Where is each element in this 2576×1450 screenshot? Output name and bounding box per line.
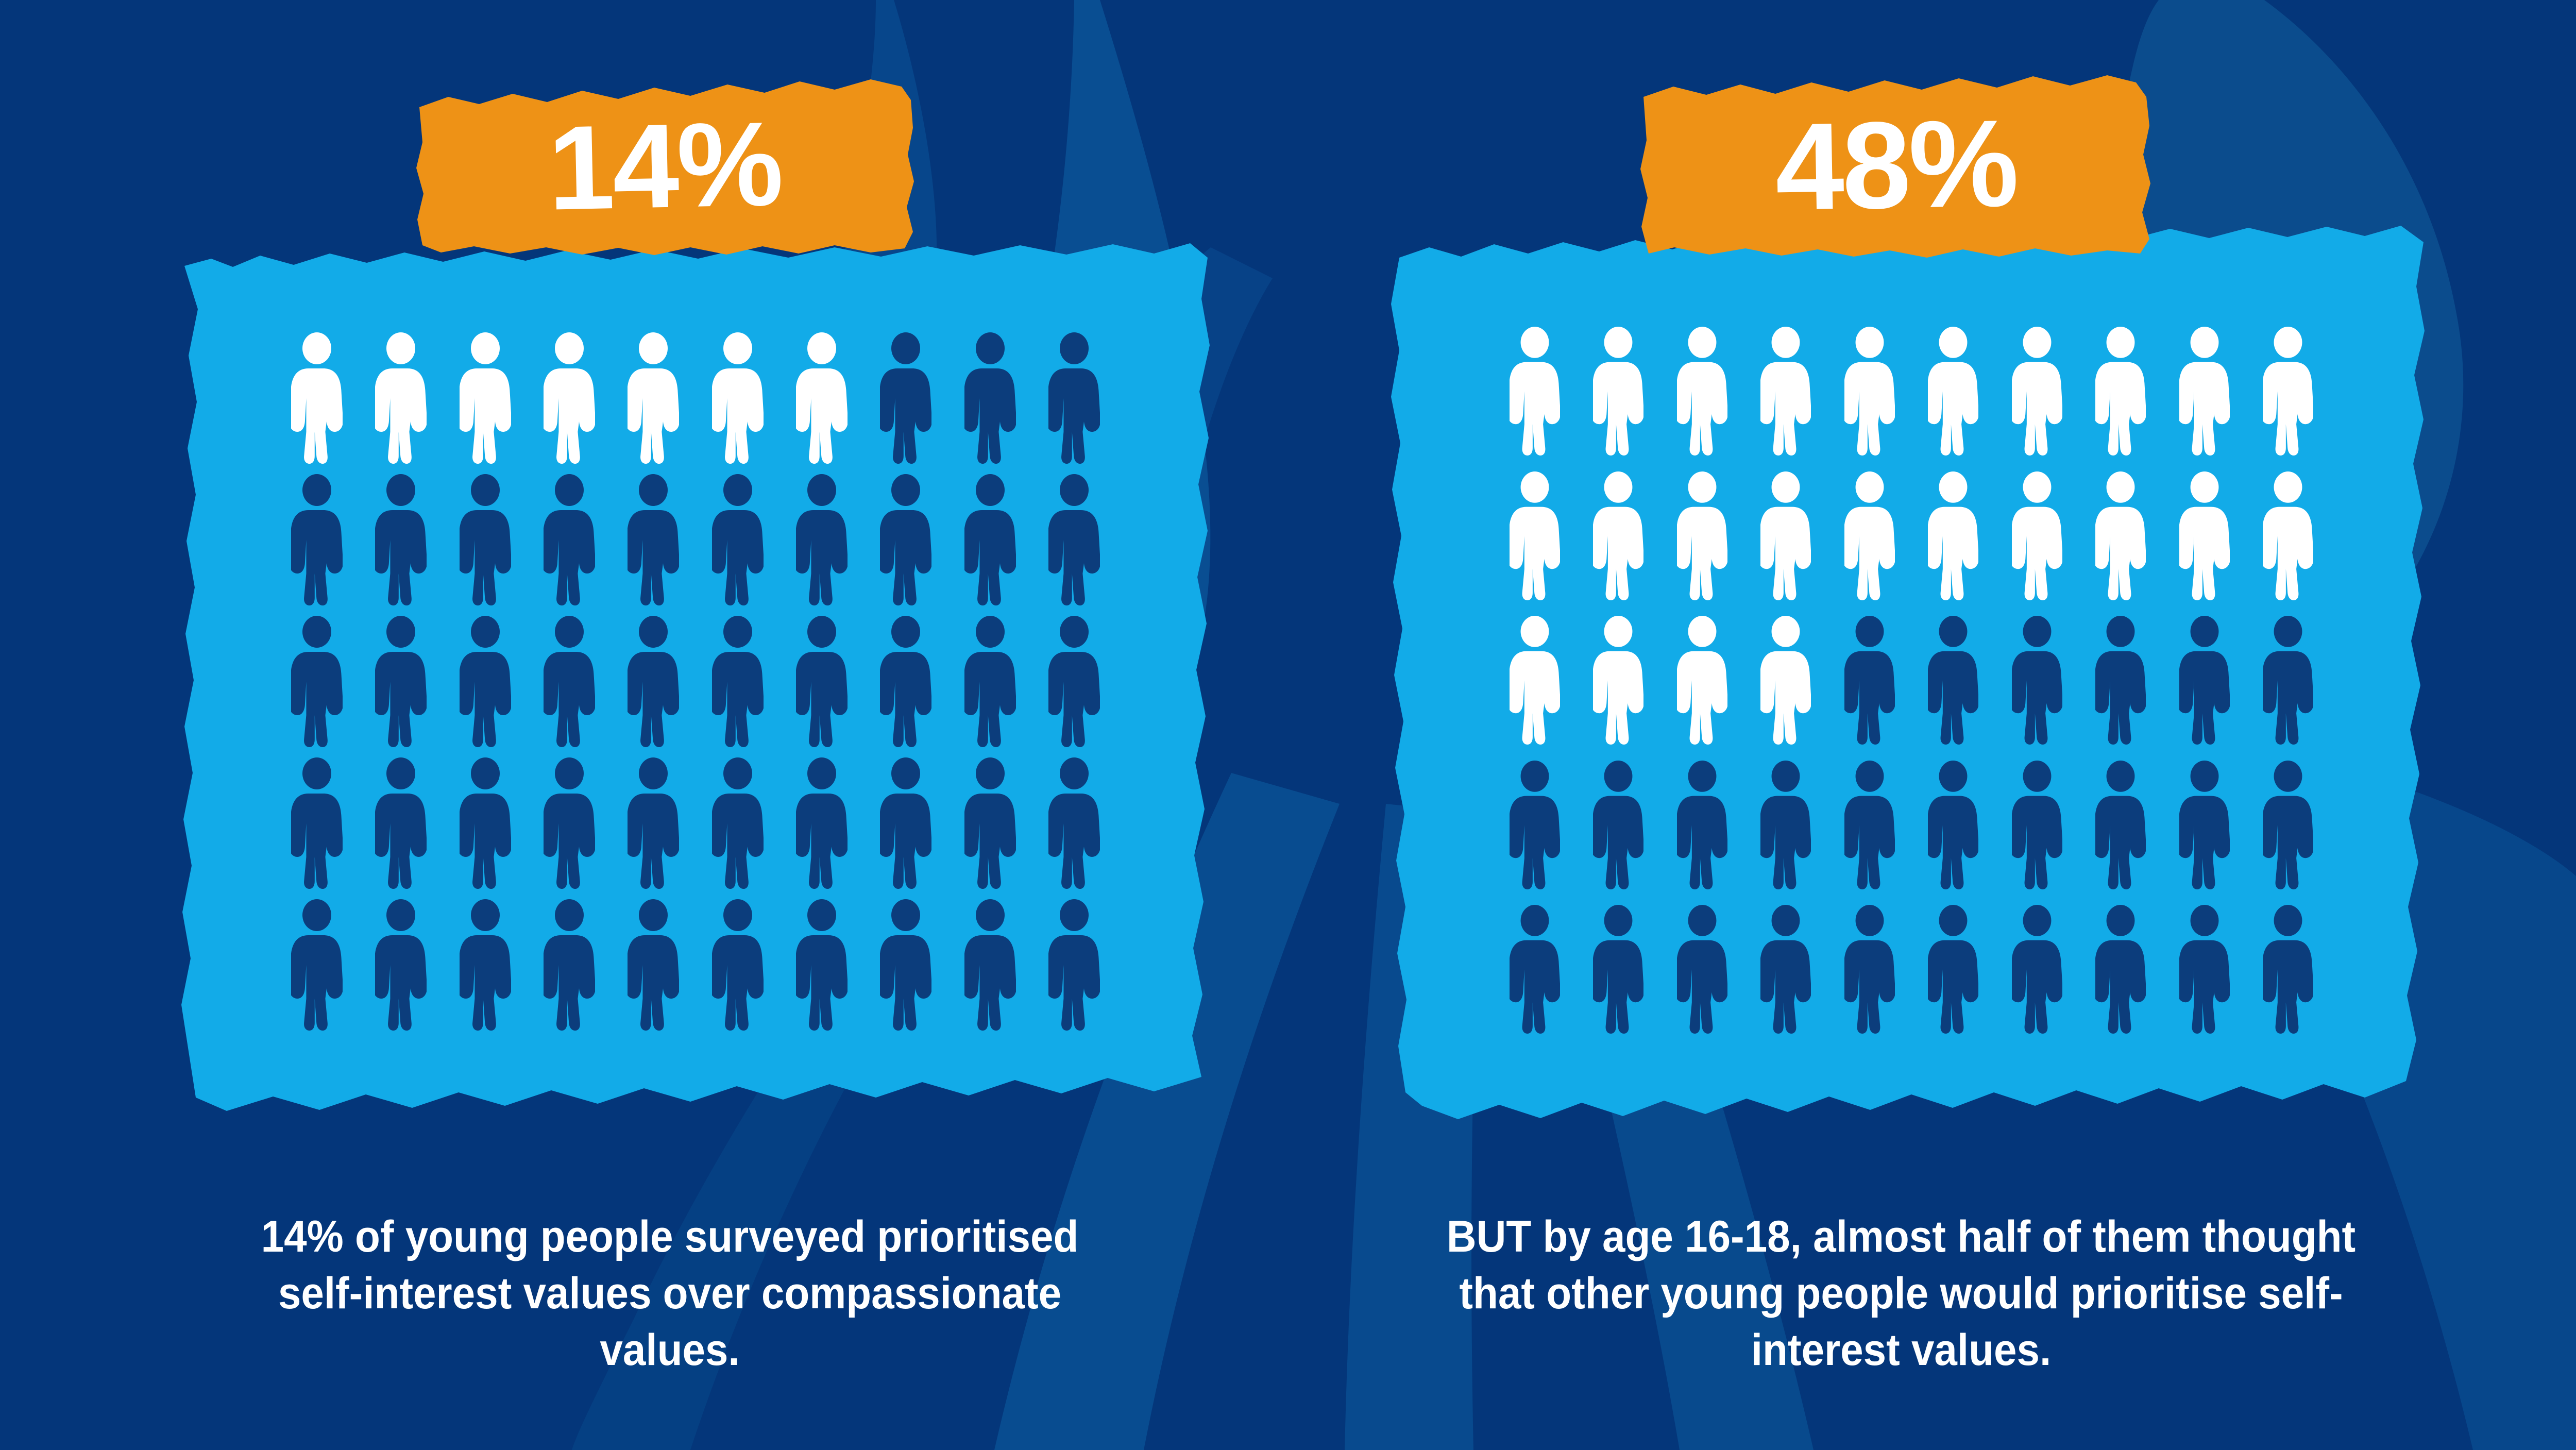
person-icon-empty [1510,758,1560,891]
person-icon-empty [712,899,764,1031]
person-icon-empty [1593,758,1643,891]
person-icon-empty [1760,903,1811,1036]
person-icon-empty [1048,757,1100,889]
person-icon-empty [375,757,427,889]
person-icon-empty [2012,758,2062,891]
person-icon-filled [460,332,511,464]
person-icon-empty [628,616,679,747]
person-icon-filled [1593,325,1643,458]
person-icon-filled [1510,469,1560,602]
pictogram-row [291,332,1100,464]
person-icon-empty [544,757,595,889]
pictogram-row [291,899,1100,1031]
person-icon-empty [1510,903,1560,1036]
person-icon-empty [796,616,848,747]
person-icon-filled [1593,614,1643,747]
person-icon-empty [712,757,764,889]
infographic-canvas: 14% 14% of young people surveyed priorit… [0,0,2576,1450]
person-icon-filled [1677,469,1727,602]
person-icon-filled [1677,325,1727,458]
person-icon-empty [796,474,848,605]
person-icon-filled [1677,614,1727,747]
caption-left: 14% of young people surveyed prioritised… [248,1208,1092,1378]
person-icon-filled [2263,469,2313,602]
person-icon-empty [1593,903,1643,1036]
person-icon-empty [880,332,931,464]
person-icon-empty [544,474,595,605]
pictogram-row [291,616,1100,747]
person-icon-empty [2263,758,2313,891]
person-icon-empty [2179,614,2230,747]
person-icon-empty [964,616,1016,747]
person-icon-empty [375,474,427,605]
person-icon-empty [544,616,595,747]
person-icon-empty [460,757,511,889]
person-icon-empty [1048,899,1100,1031]
person-icon-empty [2012,903,2062,1036]
pictogram-row [1510,325,2313,458]
person-icon-empty [1928,758,1978,891]
pictogram-row [1510,614,2313,747]
person-icon-filled [796,332,848,464]
caption-right: BUT by age 16-18, almost half of them th… [1427,1208,2375,1378]
person-icon-empty [2012,614,2062,747]
person-icon-empty [628,757,679,889]
person-icon-filled [375,332,427,464]
person-icon-empty [2095,903,2146,1036]
badge-right: 48% [1638,72,2154,258]
person-icon-empty [1928,614,1978,747]
panel-right [1391,222,2432,1128]
person-icon-empty [460,899,511,1031]
person-icon-empty [291,899,343,1031]
pictogram-row [291,757,1100,889]
person-icon-empty [1048,616,1100,747]
person-icon-empty [712,616,764,747]
pictogram-grid-left [291,332,1100,1031]
person-icon-empty [964,757,1016,889]
person-icon-empty [628,474,679,605]
person-icon-filled [1760,469,1811,602]
person-icon-empty [291,474,343,605]
person-icon-filled [1510,325,1560,458]
person-icon-filled [2095,469,2146,602]
person-icon-filled [2095,325,2146,458]
pictogram-grid-right [1510,325,2313,1036]
person-icon-filled [1593,469,1643,602]
person-icon-empty [1928,903,1978,1036]
person-icon-filled [2179,325,2230,458]
person-icon-empty [460,474,511,605]
badge-right-label: 48% [1637,68,2155,262]
person-icon-empty [2095,614,2146,747]
person-icon-empty [2179,903,2230,1036]
person-icon-empty [880,899,931,1031]
person-icon-empty [544,899,595,1031]
pictogram-row [291,474,1100,605]
person-icon-empty [1048,474,1100,605]
person-icon-filled [2012,325,2062,458]
person-icon-empty [880,757,931,889]
person-icon-filled [544,332,595,464]
person-icon-empty [880,474,931,605]
person-icon-empty [375,899,427,1031]
person-icon-empty [796,757,848,889]
person-icon-empty [1844,903,1895,1036]
person-icon-empty [375,616,427,747]
person-icon-filled [1760,614,1811,747]
person-icon-filled [2012,469,2062,602]
person-icon-filled [2179,469,2230,602]
person-icon-empty [2263,614,2313,747]
person-icon-empty [712,474,764,605]
person-icon-empty [964,474,1016,605]
person-icon-filled [2263,325,2313,458]
person-icon-filled [712,332,764,464]
person-icon-empty [964,899,1016,1031]
pictogram-row [1510,903,2313,1036]
person-icon-filled [291,332,343,464]
pictogram-row [1510,758,2313,891]
person-icon-empty [1760,758,1811,891]
panel-left [175,222,1216,1128]
person-icon-empty [291,757,343,889]
person-icon-filled [1760,325,1811,458]
person-icon-empty [291,616,343,747]
person-icon-empty [1048,332,1100,464]
person-icon-empty [628,899,679,1031]
person-icon-filled [1928,325,1978,458]
person-icon-empty [2095,758,2146,891]
person-icon-empty [2179,758,2230,891]
person-icon-empty [2263,903,2313,1036]
badge-left-label: 14% [410,72,919,260]
badge-left: 14% [412,77,917,255]
person-icon-filled [1510,614,1560,747]
person-icon-empty [1677,903,1727,1036]
person-icon-empty [880,616,931,747]
person-icon-empty [964,332,1016,464]
person-icon-empty [1844,614,1895,747]
person-icon-empty [1844,758,1895,891]
pictogram-row [1510,469,2313,602]
person-icon-empty [796,899,848,1031]
person-icon-empty [460,616,511,747]
person-icon-filled [1928,469,1978,602]
person-icon-filled [628,332,679,464]
person-icon-filled [1844,325,1895,458]
person-icon-filled [1844,469,1895,602]
person-icon-empty [1677,758,1727,891]
